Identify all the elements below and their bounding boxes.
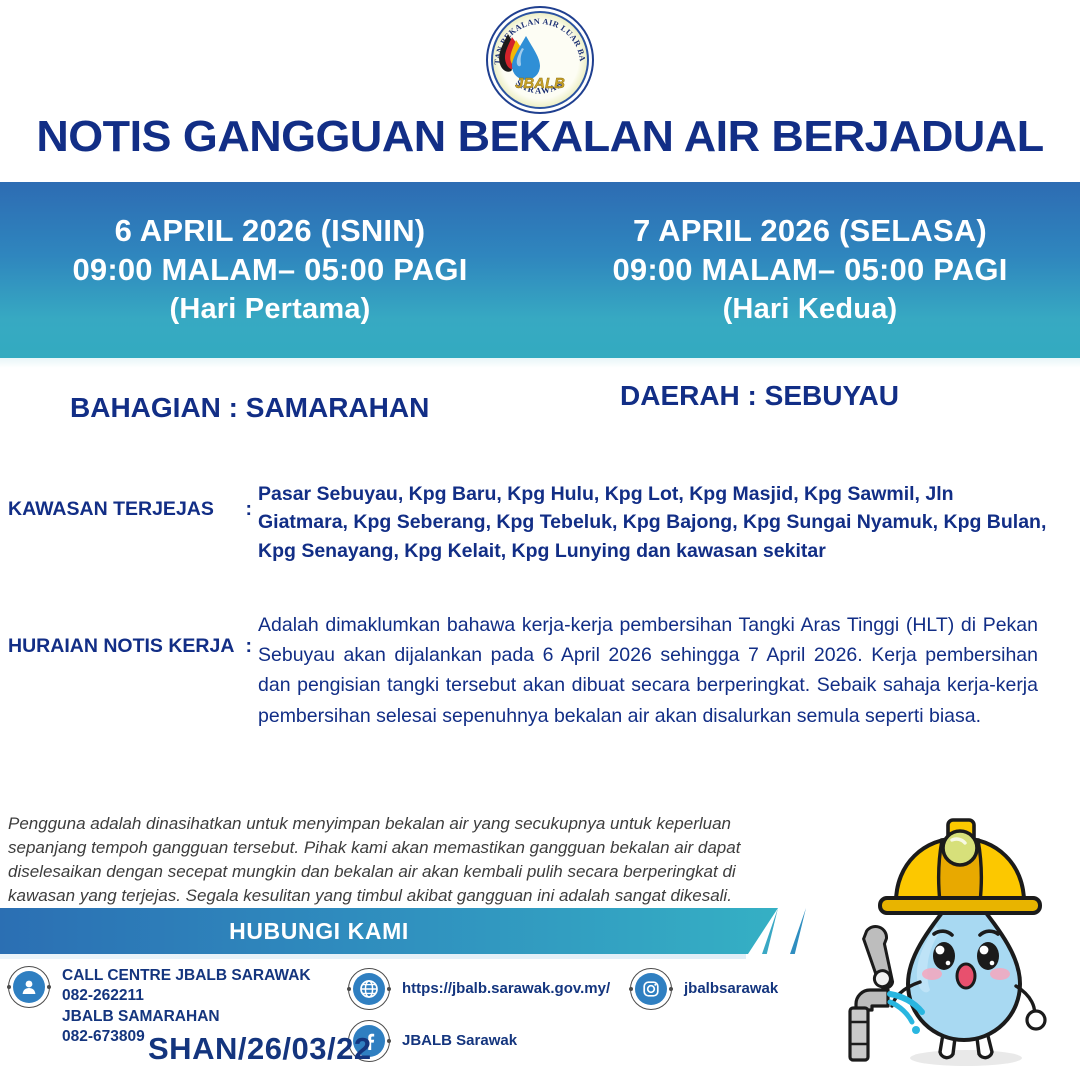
schedule-day-label: (Hari Pertama) — [169, 290, 370, 329]
water-droplet-plumber-mascot — [836, 806, 1080, 1080]
schedule-day-1: 6 APRIL 2026 (ISNIN) 09:00 MALAM– 05:00 … — [0, 182, 540, 358]
banner-slash-accent — [790, 908, 806, 954]
call-centre-phone: 082-262211 — [62, 987, 144, 1004]
branch-phone: 082-673809 — [62, 1028, 145, 1045]
contact-facebook[interactable]: JBALB Sarawak — [348, 1020, 517, 1062]
banner-underline — [0, 954, 746, 959]
schedule-date: 7 APRIL 2026 (SELASA) — [633, 211, 987, 251]
person-icon — [8, 966, 50, 1008]
reference-code: SHAN/26/03/22 — [148, 1031, 372, 1067]
work-description-value: Adalah dimaklumkan bahawa kerja-kerja pe… — [258, 610, 1062, 731]
banner-fade — [0, 358, 1080, 368]
affected-areas-value: Pasar Sebuyau, Kpg Baru, Kpg Hulu, Kpg L… — [258, 480, 1062, 565]
contact-website[interactable]: https://jbalb.sarawak.gov.my/ — [348, 968, 610, 1010]
contact-instagram[interactable]: jbalbsarawak — [630, 968, 778, 1010]
schedule-banner: 6 APRIL 2026 (ISNIN) 09:00 MALAM– 05:00 … — [0, 182, 1080, 358]
call-centre-name: CALL CENTRE JBALB SARAWAK — [62, 967, 311, 984]
facebook-handle[interactable]: JBALB Sarawak — [390, 1020, 517, 1051]
branch-name: JBALB SAMARAHAN — [62, 1008, 220, 1025]
work-description-label-text: HURAIAN NOTIS KERJA — [8, 635, 234, 657]
logo-wordmark: JBALB — [488, 75, 592, 92]
location-row: BAHAGIAN : SAMARAHAN DAERAH : SEBUYAU — [0, 380, 1080, 432]
work-description-label: HURAIAN NOTIS KERJA : — [0, 610, 258, 658]
schedule-date: 6 APRIL 2026 (ISNIN) — [115, 211, 426, 251]
schedule-time: 09:00 MALAM– 05:00 PAGI — [612, 250, 1007, 290]
page-title: NOTIS GANGGUAN BEKALAN AIR BERJADUAL — [0, 112, 1080, 162]
logo-container: JABATAN BEKALAN AIR LUAR BANDAR SARAWAK … — [0, 6, 1080, 114]
notice-poster: JABATAN BEKALAN AIR LUAR BANDAR SARAWAK … — [0, 0, 1080, 1080]
contact-banner-text: HUBUNGI KAMI — [229, 918, 409, 945]
work-description-colon: : — [246, 635, 259, 658]
instagram-icon — [630, 968, 672, 1010]
district-label: DAERAH : SEBUYAU — [620, 380, 899, 412]
affected-areas-colon: : — [246, 498, 259, 521]
globe-icon — [348, 968, 390, 1010]
affected-areas-field: KAWASAN TERJEJAS : Pasar Sebuyau, Kpg Ba… — [0, 480, 1062, 565]
work-description-field: HURAIAN NOTIS KERJA : Adalah dimaklumkan… — [0, 610, 1062, 731]
instagram-handle[interactable]: jbalbsarawak — [672, 968, 778, 999]
contact-banner-shape: HUBUNGI KAMI — [0, 908, 778, 954]
website-url[interactable]: https://jbalb.sarawak.gov.my/ — [390, 968, 610, 999]
schedule-day-label: (Hari Kedua) — [723, 290, 898, 329]
affected-areas-label-text: KAWASAN TERJEJAS — [8, 498, 214, 520]
advisory-text: Pengguna adalah dinasihatkan untuk menyi… — [8, 812, 798, 909]
jbalb-logo: JABATAN BEKALAN AIR LUAR BANDAR SARAWAK … — [486, 6, 594, 114]
schedule-day-2: 7 APRIL 2026 (SELASA) 09:00 MALAM– 05:00… — [540, 182, 1080, 358]
schedule-time: 09:00 MALAM– 05:00 PAGI — [72, 250, 467, 290]
division-label: BAHAGIAN : SAMARAHAN — [70, 392, 429, 424]
affected-areas-label: KAWASAN TERJEJAS : — [0, 480, 258, 521]
